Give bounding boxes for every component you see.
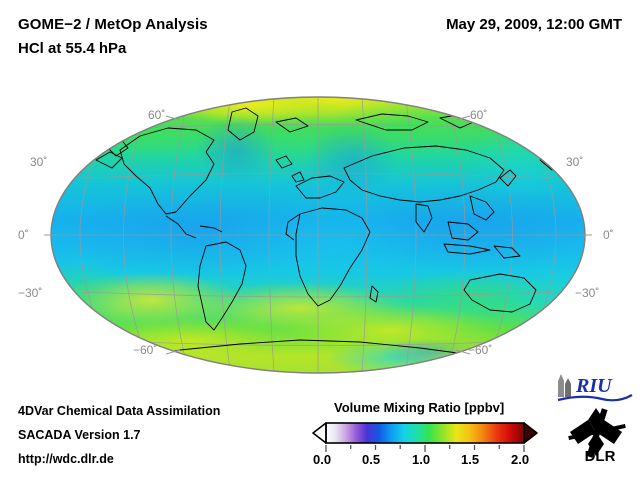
lat-label-right-0: 0˚ xyxy=(603,228,614,242)
footer-line-url[interactable]: http://wdc.dlr.de xyxy=(18,452,114,466)
colorbar-tick-2: 1.0 xyxy=(412,452,430,467)
colorbar-right-arrow xyxy=(524,423,537,443)
colorbar-tick-0: 0.0 xyxy=(313,452,331,467)
map-data-field xyxy=(30,74,620,385)
lat-label-left-0: 0˚ xyxy=(18,228,29,242)
colorbar-left-arrow xyxy=(313,423,326,443)
lat-label-left-m60: −60˚ xyxy=(133,343,157,357)
colorbar-title: Volume Mixing Ratio [ppbv] xyxy=(334,400,504,415)
colorbar-tick-1: 0.5 xyxy=(362,452,380,467)
lat-label-right-60: 60˚ xyxy=(470,108,487,122)
colorbar-gradient xyxy=(326,423,524,443)
lat-label-right-30: 30˚ xyxy=(566,155,583,169)
lat-label-left-60: 60˚ xyxy=(148,108,165,122)
lat-label-left-30: 30˚ xyxy=(30,155,47,169)
lat-label-right-m30: −30˚ xyxy=(575,286,599,300)
lat-label-right-m60: −60˚ xyxy=(468,343,492,357)
riu-towers-icon xyxy=(558,374,571,397)
colorbar xyxy=(312,421,538,445)
colorbar-tick-3: 1.5 xyxy=(461,452,479,467)
colorbar-tick-4: 2.0 xyxy=(511,452,529,467)
dlr-wordmark: DLR xyxy=(585,448,616,464)
lat-label-left-m30: −30˚ xyxy=(18,286,42,300)
colorbar-tick-marks xyxy=(312,445,538,452)
dlr-logo: DLR xyxy=(566,406,636,464)
riu-logo: RIU xyxy=(552,371,636,403)
riu-wordmark: RIU xyxy=(575,375,613,397)
world-map: 60˚ 30˚ 0˚ −30˚ −60˚ 60˚ 30˚ 0˚ −30˚ −60… xyxy=(0,0,640,400)
footer-line-version: SACADA Version 1.7 xyxy=(18,428,141,442)
footer-line-method: 4DVar Chemical Data Assimilation xyxy=(18,404,220,418)
map-svg xyxy=(0,0,640,400)
